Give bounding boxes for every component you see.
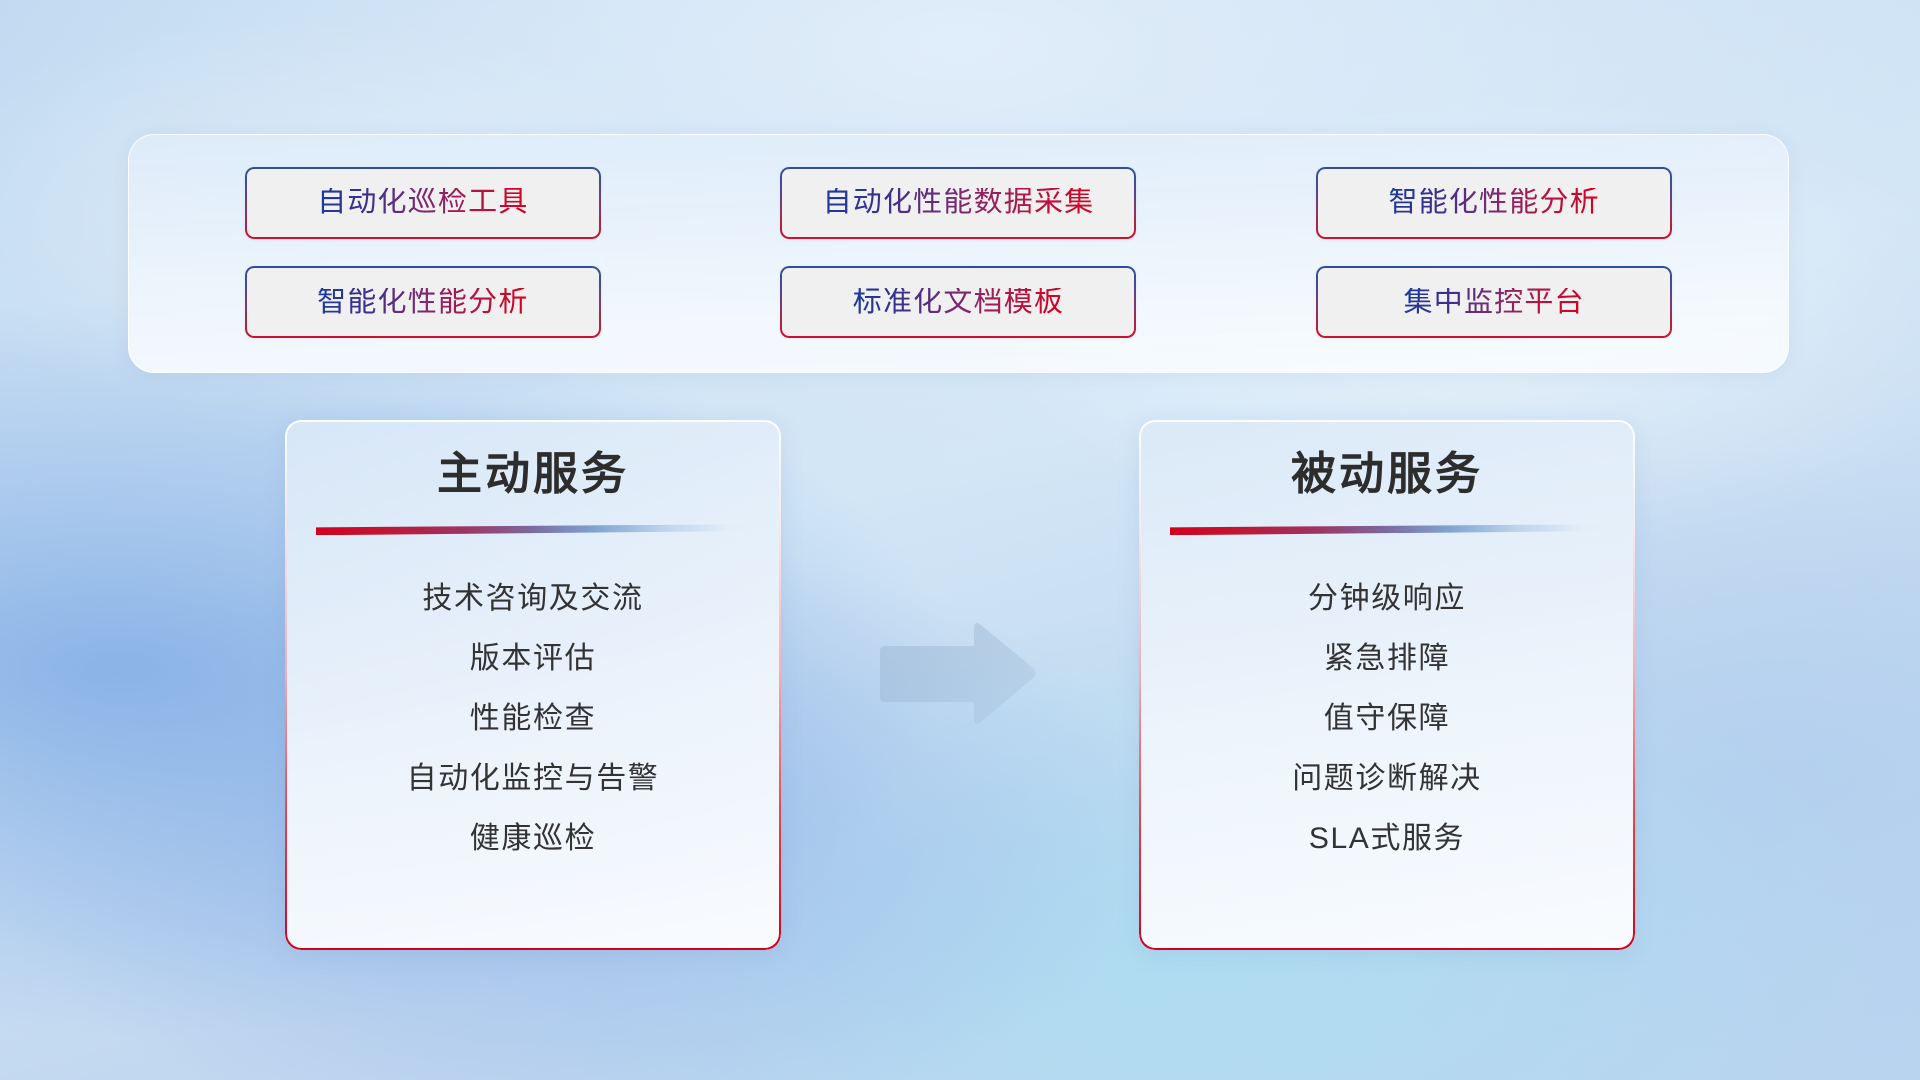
right-arrow-icon — [875, 618, 1039, 731]
list-item[interactable]: 值守保障 — [1324, 689, 1450, 749]
active-service-card: 主动服务 技术咨询及交流 版本评估 性能检查 自动化监控与告警 健康巡检 — [285, 420, 781, 950]
capability-pill-1-label: 自动化巡检工具 — [317, 188, 528, 217]
passive-service-list: 分钟级响应 紧急排障 值守保障 问题诊断解决 SLA式服务 — [1169, 569, 1605, 869]
capability-pill-3[interactable]: 智能化性能分析 — [1316, 167, 1672, 239]
active-service-list: 技术咨询及交流 版本评估 性能检查 自动化监控与告警 健康巡检 — [315, 569, 751, 869]
active-service-title: 主动服务 — [437, 446, 629, 502]
list-item[interactable]: 健康巡检 — [470, 809, 596, 869]
capability-pill-6[interactable]: 集中监控平台 — [1316, 266, 1672, 338]
capability-panel: 自动化巡检工具 自动化性能数据采集 智能化性能分析 智能化性能分析 标准化文档模… — [128, 134, 1789, 373]
capability-pill-3-label: 智能化性能分析 — [1388, 188, 1599, 217]
list-item[interactable]: 性能检查 — [470, 689, 596, 749]
list-item[interactable]: 技术咨询及交流 — [422, 569, 643, 629]
list-item[interactable]: 分钟级响应 — [1308, 569, 1466, 629]
capability-pill-2-label: 自动化性能数据采集 — [823, 188, 1095, 217]
passive-service-card: 被动服务 分钟级响应 紧急排障 值守保障 问题诊断解决 SLA式服务 — [1139, 420, 1635, 950]
capability-pill-5-label: 标准化文档模板 — [853, 288, 1064, 317]
list-item[interactable]: 问题诊断解决 — [1292, 749, 1482, 809]
capability-pill-4[interactable]: 智能化性能分析 — [245, 266, 601, 338]
list-item[interactable]: SLA式服务 — [1309, 809, 1465, 869]
list-item[interactable]: 版本评估 — [470, 629, 596, 689]
capability-pill-6-label: 集中监控平台 — [1404, 288, 1585, 317]
passive-service-divider — [1170, 524, 1604, 535]
capability-pill-2[interactable]: 自动化性能数据采集 — [780, 167, 1136, 239]
capability-pill-1[interactable]: 自动化巡检工具 — [245, 167, 601, 239]
capability-pill-4-label: 智能化性能分析 — [317, 288, 528, 317]
list-item[interactable]: 自动化监控与告警 — [407, 749, 660, 809]
passive-service-title: 被动服务 — [1291, 446, 1483, 502]
list-item[interactable]: 紧急排障 — [1324, 629, 1450, 689]
active-service-divider — [316, 524, 750, 535]
capability-pill-5[interactable]: 标准化文档模板 — [780, 266, 1136, 338]
